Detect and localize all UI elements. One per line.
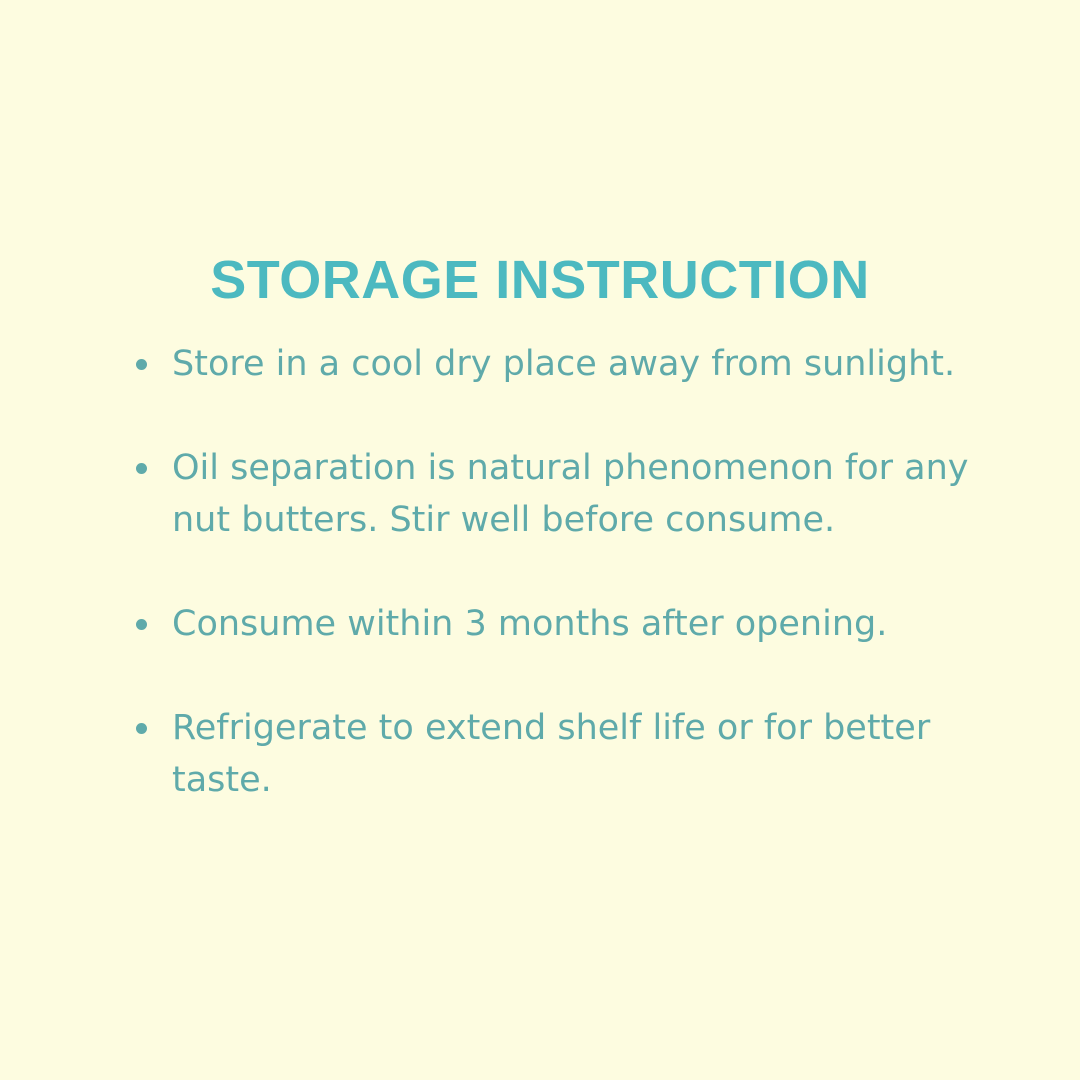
- bullet-icon: [136, 359, 147, 370]
- bullet-icon: [136, 463, 147, 474]
- page-title: STORAGE INSTRUCTION: [0, 249, 1080, 311]
- list-item: Refrigerate to extend shelf life or for …: [130, 702, 1010, 806]
- storage-instruction-card: STORAGE INSTRUCTION Store in a cool dry …: [0, 0, 1080, 1080]
- list-item-label: Refrigerate to extend shelf life or for …: [172, 702, 1010, 806]
- instruction-list: Store in a cool dry place away from sunl…: [130, 338, 1010, 806]
- list-item-label: Store in a cool dry place away from sunl…: [172, 338, 1010, 390]
- bullet-icon: [136, 619, 147, 630]
- list-item: Oil separation is natural phenomenon for…: [130, 442, 1010, 546]
- list-item-label: Consume within 3 months after opening.: [172, 598, 1010, 650]
- list-item: Store in a cool dry place away from sunl…: [130, 338, 1010, 390]
- list-item-label: Oil separation is natural phenomenon for…: [172, 442, 1010, 546]
- bullet-icon: [136, 723, 147, 734]
- list-item: Consume within 3 months after opening.: [130, 598, 1010, 650]
